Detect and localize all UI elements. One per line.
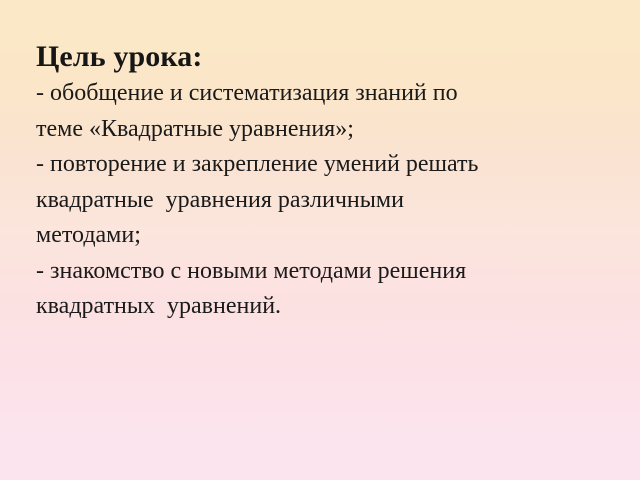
goal-line: квадратных уравнений. bbox=[36, 289, 616, 325]
goal-line: - обобщение и систематизация знаний по bbox=[36, 76, 616, 112]
goal-line: методами; bbox=[36, 218, 616, 254]
goal-line: теме «Квадратные уравнения»; bbox=[36, 112, 616, 148]
slide-title: Цель урока: bbox=[36, 38, 616, 76]
slide-canvas: Цель урока: - обобщение и систематизация… bbox=[0, 0, 640, 480]
goal-text-block: - обобщение и систематизация знаний по т… bbox=[36, 76, 616, 325]
goal-line: - повторение и закрепление умений решать bbox=[36, 147, 616, 183]
slide-content-block: Цель урока: - обобщение и систематизация… bbox=[36, 38, 616, 325]
goal-line: квадратные уравнения различными bbox=[36, 183, 616, 219]
goal-line: - знакомство с новыми методами решения bbox=[36, 254, 616, 290]
